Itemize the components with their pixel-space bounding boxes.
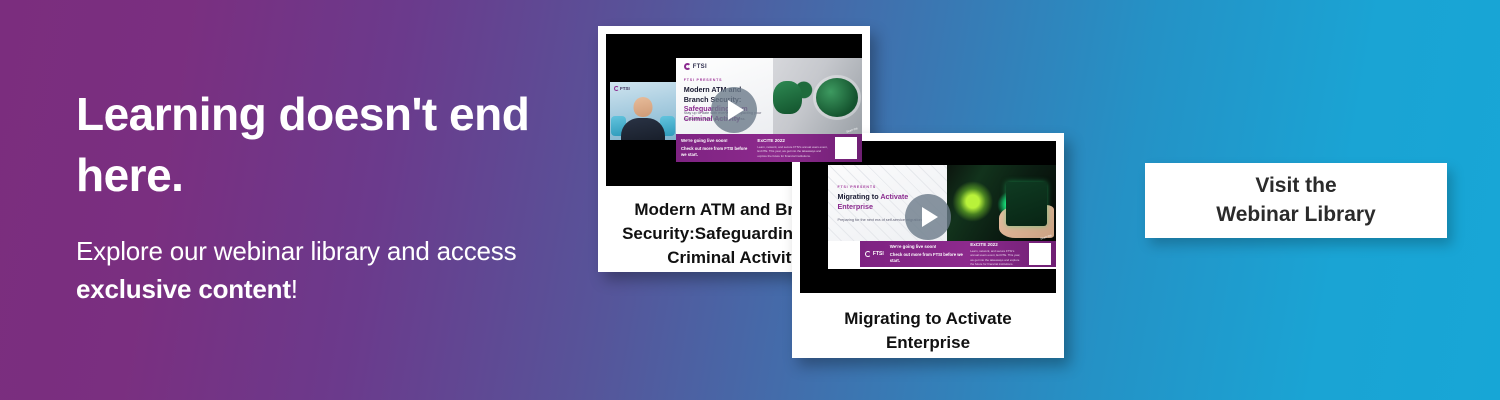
- promo-subtitle-tail: !: [291, 274, 298, 304]
- logo-ring-icon: [614, 86, 619, 91]
- play-triangle-icon: [922, 207, 938, 227]
- logo-wordmark: FTSI: [620, 86, 630, 91]
- play-button-icon[interactable]: [905, 194, 951, 240]
- video-thumbnail[interactable]: FTSI PRESENTS Migrating to Activate Ente…: [800, 141, 1056, 293]
- slide-footer-headline: We're going live soon!: [890, 244, 964, 249]
- slide-footer-bar: FTSI We're going live soon! Check out mo…: [860, 241, 1056, 267]
- presenter-head-shape: [634, 97, 653, 117]
- play-button-icon[interactable]: [711, 87, 757, 133]
- ftsi-logo-icon: FTSI: [614, 86, 630, 91]
- slide-preview: FTSI FTSI PRESENTS Modern ATM and Branch…: [676, 58, 862, 162]
- slide-footer-promo: We're going live soon! Check out more fr…: [681, 138, 751, 158]
- cta-label-line1: Visit the: [1255, 174, 1336, 197]
- slide-eyebrow: FTSI PRESENTS: [684, 78, 723, 82]
- slide-top-area: FTSI FTSI PRESENTS Modern ATM and Branch…: [676, 58, 862, 134]
- slide-footer-event: ExCITE 2022 Learn, network, and secure F…: [970, 242, 1023, 266]
- promo-subtitle-lead: Explore our webinar library and access: [76, 236, 516, 266]
- slide-footer-bar: We're going live soon! Check out more fr…: [676, 134, 862, 162]
- play-triangle-icon: [728, 100, 744, 120]
- slide-footer-event-name: ExCITE 2022: [757, 138, 829, 143]
- slide-footer-promo: We're going live soon! Check out more fr…: [890, 244, 964, 264]
- promo-subtitle-emphasis: exclusive content: [76, 274, 291, 304]
- cta-label: Visit the Webinar Library: [1216, 172, 1376, 229]
- logo-ring-icon: [684, 63, 691, 70]
- qr-code-icon: [835, 137, 857, 159]
- cta-label-line2: Webinar Library: [1216, 203, 1376, 226]
- slide-photo-atm-mobile: [937, 165, 1056, 241]
- presenter-webcam-inset: FTSI: [610, 82, 676, 140]
- slide-footer-event-body: Learn, network, and secure FTSI's annual…: [757, 145, 829, 158]
- slide-footer-event: ExCITE 2022 Learn, network, and secure F…: [757, 138, 829, 158]
- page-title: Learning doesn't end here.: [76, 84, 546, 205]
- promo-subtitle: Explore our webinar library and access e…: [76, 233, 546, 308]
- promo-copy: Learning doesn't end here. Explore our w…: [76, 84, 546, 309]
- slide-footer-subline: Check out more from FTSI before we start…: [890, 252, 964, 264]
- slide-footer-subline: Check out more from FTSI before we start…: [681, 146, 751, 158]
- slide-footer-event-body: Learn, network, and secure FTSI's annual…: [970, 249, 1023, 266]
- video-card-title: Migrating to Activate Enterprise: [800, 293, 1056, 355]
- slide-photo-atm-lock: [765, 58, 862, 134]
- logo-wordmark: FTSI: [873, 251, 884, 257]
- video-card-migrating-activate[interactable]: FTSI PRESENTS Migrating to Activate Ente…: [792, 133, 1064, 358]
- presenter-body-shape: [621, 118, 665, 140]
- visit-webinar-library-button[interactable]: Visit the Webinar Library: [1145, 163, 1447, 238]
- ftsi-logo-icon: FTSI: [865, 251, 884, 257]
- slide-footer-event-name: ExCITE 2022: [970, 242, 1023, 247]
- slide-footer-headline: We're going live soon!: [681, 138, 751, 143]
- slide-heading-plain: Migrating to: [837, 192, 880, 201]
- logo-wordmark: FTSI: [693, 64, 707, 70]
- logo-ring-icon: [865, 251, 871, 257]
- qr-code-icon: [1029, 243, 1051, 265]
- slide-eyebrow: FTSI PRESENTS: [837, 185, 876, 189]
- ftsi-logo-icon: FTSI: [684, 63, 707, 70]
